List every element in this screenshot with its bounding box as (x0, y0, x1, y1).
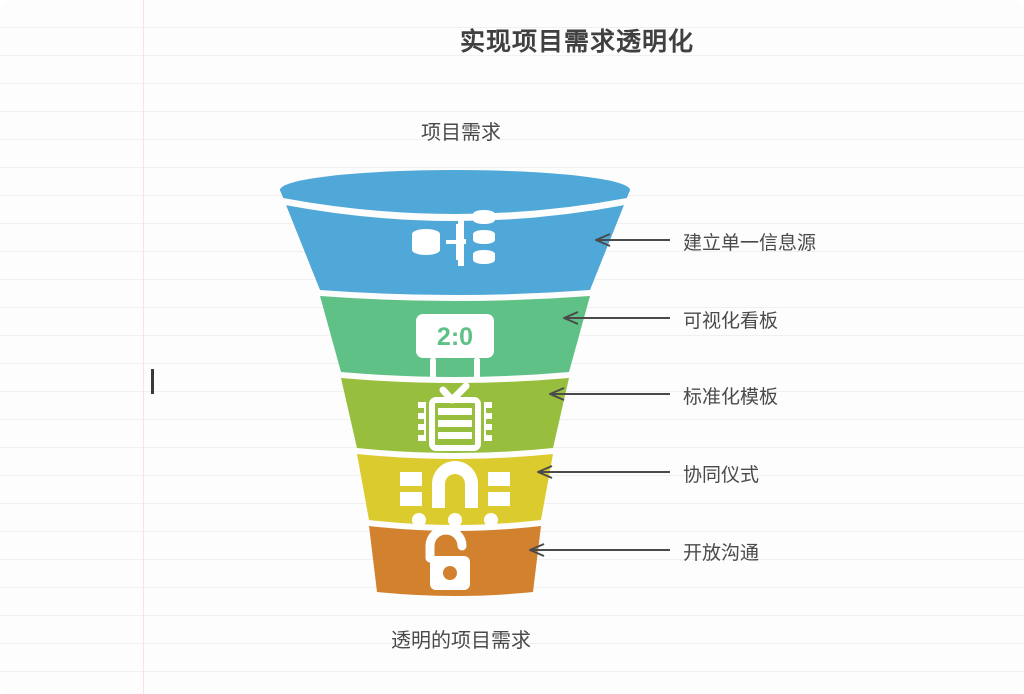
funnel-stage-5-label: 开放沟通 (683, 538, 759, 565)
funnel-stage-2-label: 可视化看板 (683, 306, 778, 333)
text-caret[interactable] (151, 369, 154, 394)
funnel-stage-1[interactable] (280, 170, 670, 295)
funnel-stage-3-label: 标准化模板 (683, 382, 778, 409)
funnel-output-label: 透明的项目需求 (333, 624, 589, 653)
funnel-rim (280, 170, 630, 210)
funnel-stage-1-arrow (596, 234, 670, 246)
diagram-canvas: 实现项目需求透明化 项目需求 透明的项目需求 (0, 0, 1024, 694)
funnel-stage-5[interactable] (369, 526, 670, 596)
funnel-stage-3[interactable] (341, 378, 670, 453)
funnel-stage-3-body (341, 378, 569, 453)
page-title: 实现项目需求透明化 (0, 22, 1024, 58)
funnel-stage-1-label: 建立单一信息源 (683, 228, 816, 255)
funnel-stage-4-arrow (538, 466, 670, 478)
funnel-stage-4-label: 协同仪式 (683, 460, 759, 487)
funnel-stage-2[interactable]: 2:0 (320, 296, 670, 378)
scoreboard-score: 2:0 (437, 323, 473, 351)
funnel-input-label: 项目需求 (333, 116, 589, 145)
funnel-stage-5-arrow (530, 544, 670, 556)
funnel-stage-3-arrow (550, 388, 670, 400)
notebook-margin-line (143, 0, 144, 694)
funnel-stage-4[interactable] (357, 454, 670, 538)
